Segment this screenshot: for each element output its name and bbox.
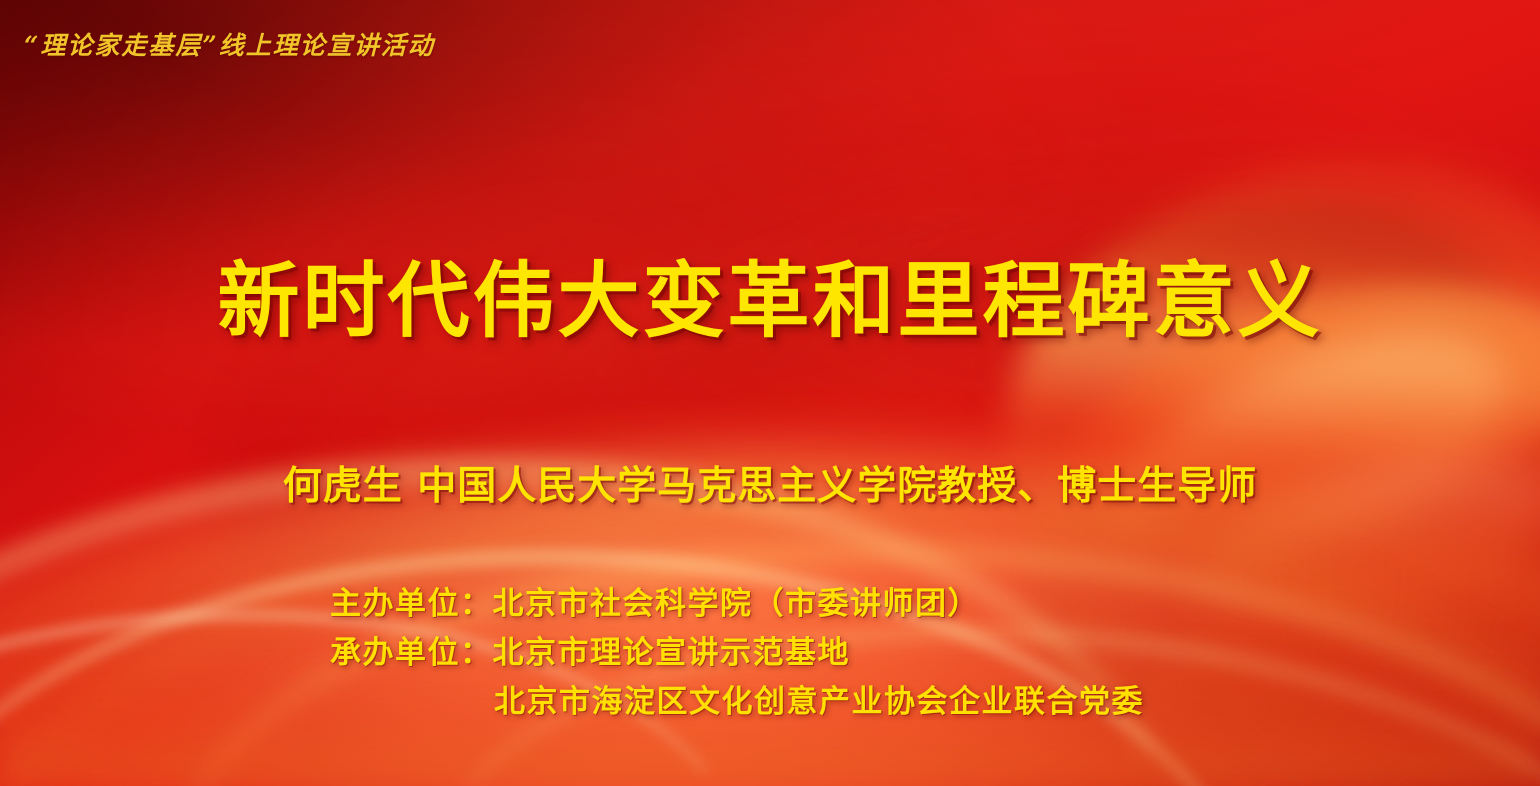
organizer-block: 主办单位：北京市社会科学院（市委讲师团） 承办单位：北京市理论宣讲示范基地 北京… xyxy=(0,586,1540,732)
organizer-line-host: 主办单位：北京市社会科学院（市委讲师团） xyxy=(330,586,980,624)
poster-content: “理论家走基层”线上理论宣讲活动 新时代伟大变革和里程碑意义 何虎生 中国人民大… xyxy=(0,0,1540,786)
organizer-line-coorganizer-secondary: 北京市海淀区文化创意产业协会企业联合党委 xyxy=(330,684,1144,722)
event-banner-text: “理论家走基层”线上理论宣讲活动 xyxy=(24,26,435,62)
page-title: 新时代伟大变革和里程碑意义 xyxy=(0,258,1540,347)
organizer-line-coorganizer: 承办单位：北京市理论宣讲示范基地 xyxy=(330,635,850,673)
poster-slide: “理论家走基层”线上理论宣讲活动 新时代伟大变革和里程碑意义 何虎生 中国人民大… xyxy=(0,0,1540,786)
speaker-credit: 何虎生 中国人民大学马克思主义学院教授、博士生导师 xyxy=(0,455,1540,511)
